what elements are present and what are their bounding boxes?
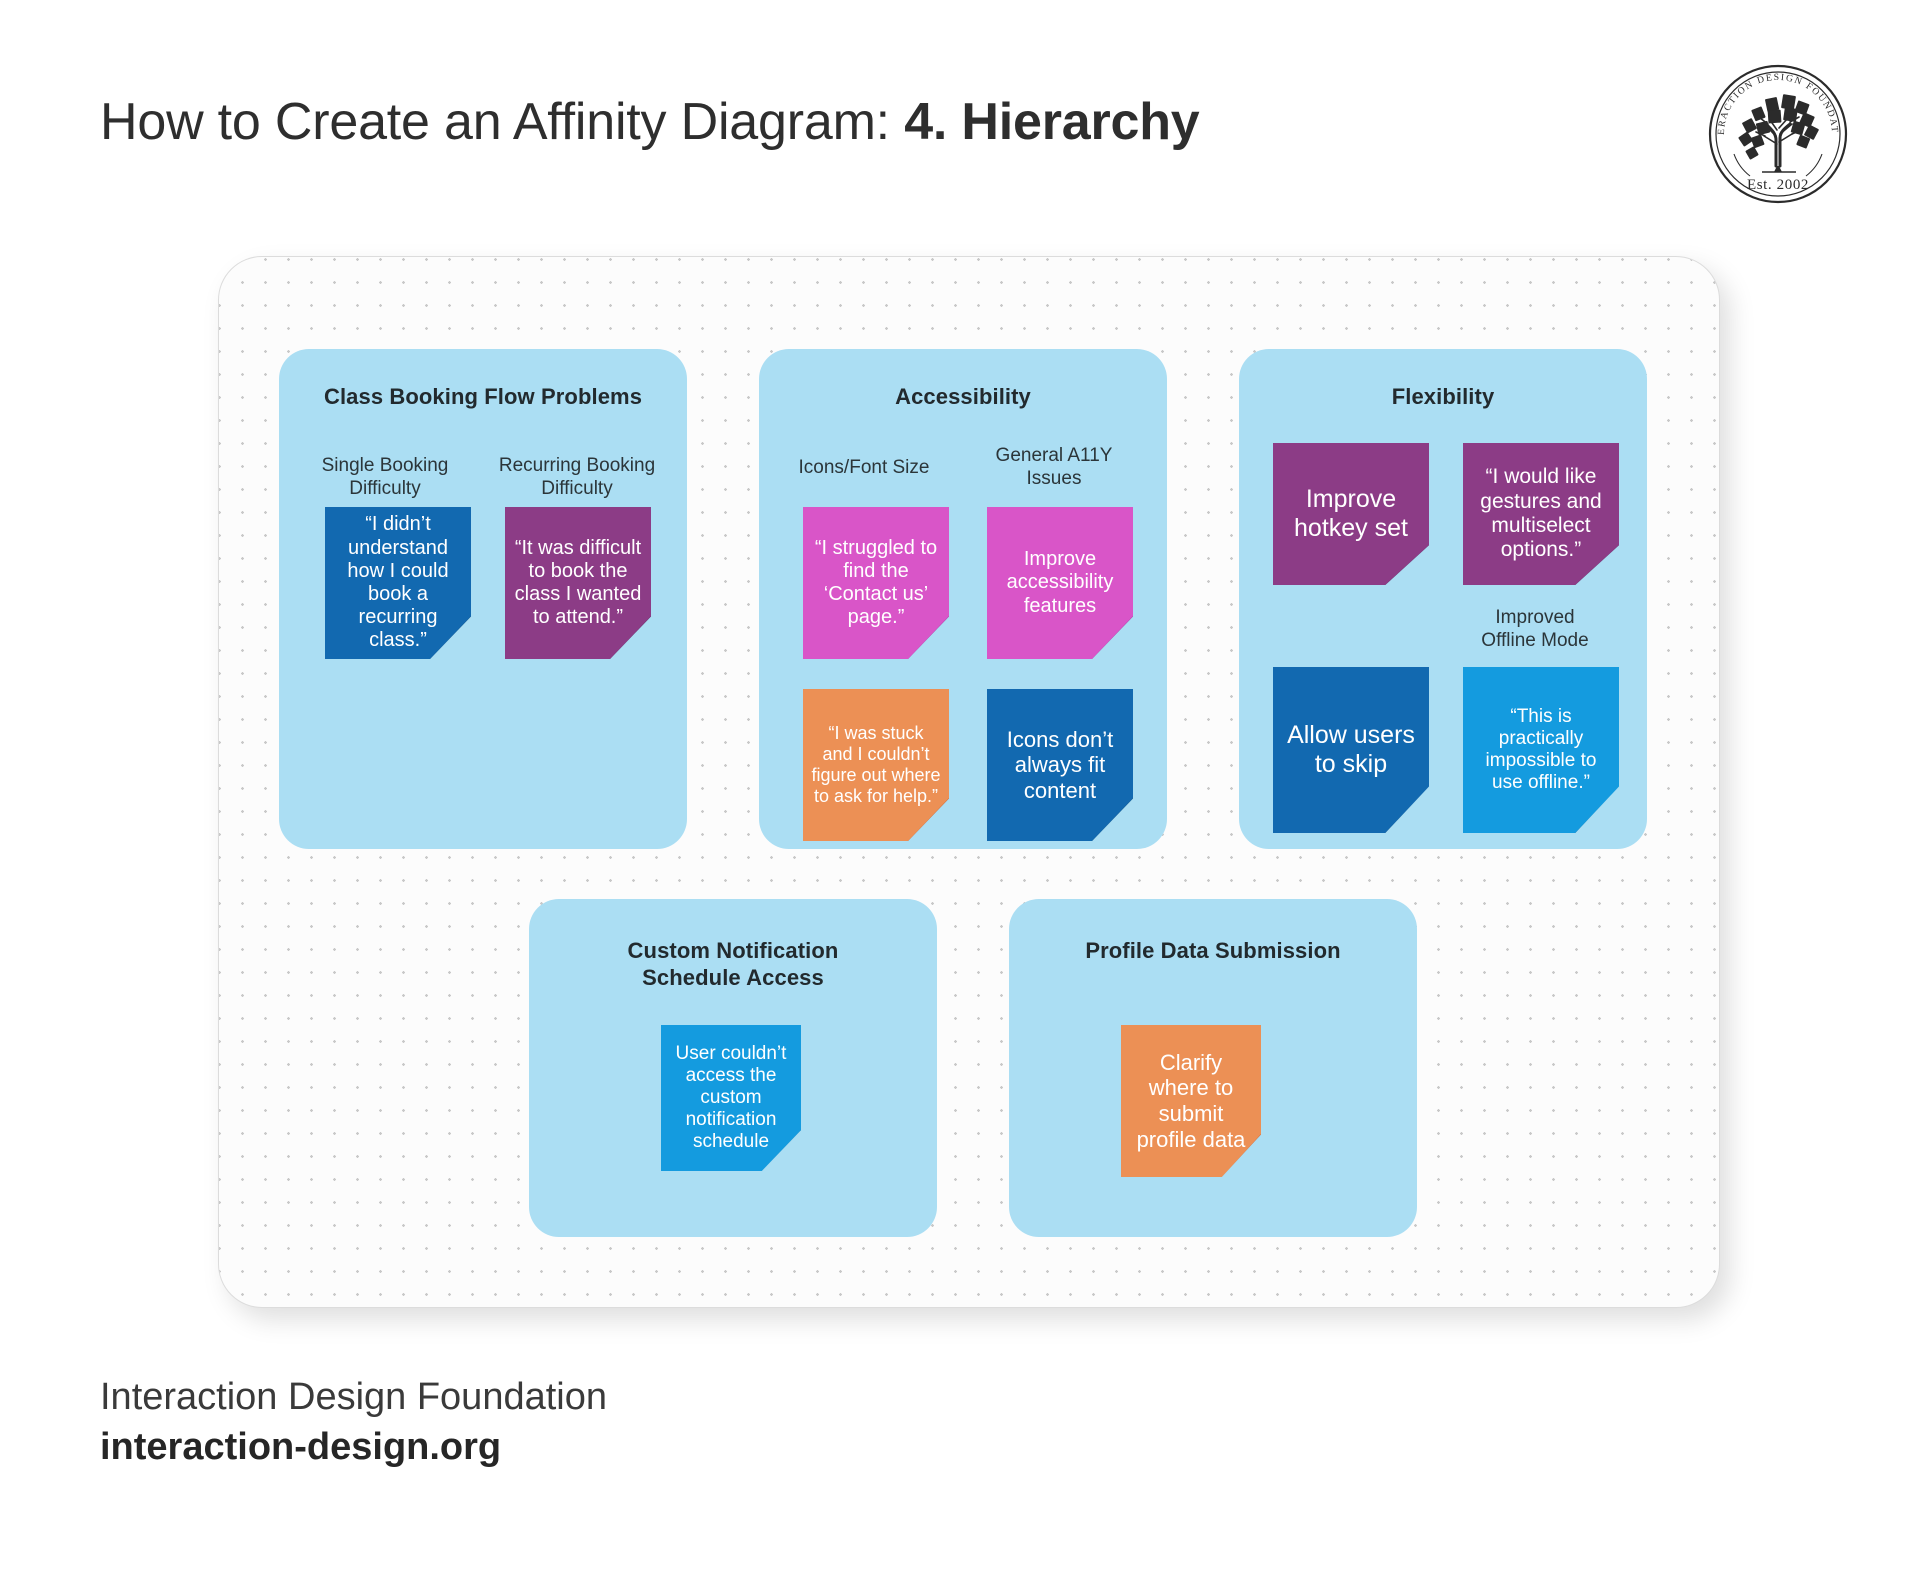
subcluster-label-accessibility-0: Icons/Font Size (769, 457, 959, 480)
sticky-note-text: Clarify where to submit profile data (1129, 1050, 1253, 1152)
group-panel-accessibility[interactable]: AccessibilityIcons/Font SizeGeneral A11Y… (759, 349, 1167, 849)
svg-text:Est. 2002: Est. 2002 (1747, 177, 1809, 193)
group-title-accessibility: Accessibility (759, 383, 1167, 410)
footer-url[interactable]: interaction-design.org (100, 1424, 607, 1472)
sticky-note[interactable]: “I didn’t understand how I could book a … (325, 507, 471, 659)
sticky-note-text: Icons don’t always fit content (995, 727, 1125, 804)
subcluster-label-class-booking-flow-problems-0: Single BookingDifficulty (295, 455, 475, 501)
idf-logo: INTERACTION DESIGN FOUNDATION (1706, 62, 1850, 206)
group-title-profile-data-submission: Profile Data Submission (1009, 937, 1417, 964)
subcluster-label-class-booking-flow-problems-1: Recurring BookingDifficulty (479, 455, 675, 501)
sticky-note-text: “I struggled to find the ‘Contact us’ pa… (811, 537, 941, 630)
sticky-note-text: “I didn’t understand how I could book a … (333, 513, 463, 652)
group-panel-class-booking-flow-problems[interactable]: Class Booking Flow ProblemsSingle Bookin… (279, 349, 687, 849)
sticky-note-text: “I was stuck and I couldn’t figure out w… (811, 723, 941, 807)
group-title-custom-notification-schedule-access: Custom NotificationSchedule Access (529, 937, 937, 992)
sticky-note[interactable]: Improve accessibility features (987, 507, 1133, 659)
sticky-note-text: Improve hotkey set (1281, 485, 1421, 543)
sticky-note[interactable]: User couldn’t access the custom notifica… (661, 1025, 801, 1171)
sticky-note-text: Allow users to skip (1281, 721, 1421, 779)
affinity-board[interactable]: Class Booking Flow ProblemsSingle Bookin… (218, 256, 1720, 1308)
sticky-note[interactable]: Allow users to skip (1273, 667, 1429, 833)
page-title: How to Create an Affinity Diagram: 4. Hi… (100, 92, 1200, 152)
sticky-note[interactable]: “This is practically impossible to use o… (1463, 667, 1619, 833)
page-header: How to Create an Affinity Diagram: 4. Hi… (0, 0, 1920, 230)
sticky-note[interactable]: “It was difficult to book the class I wa… (505, 507, 651, 659)
sticky-note[interactable]: Clarify where to submit profile data (1121, 1025, 1261, 1177)
sticky-note-fold-corner-icon (1385, 545, 1429, 585)
page-title-step: 4. Hierarchy (904, 93, 1199, 151)
sticky-note[interactable]: “I struggled to find the ‘Contact us’ pa… (803, 507, 949, 659)
subcluster-label-flexibility-0: ImprovedOffline Mode (1437, 607, 1633, 653)
sticky-note[interactable]: Icons don’t always fit content (987, 689, 1133, 841)
sticky-note-fold-corner-icon (1385, 787, 1429, 833)
subcluster-label-accessibility-1: General A11YIssues (959, 445, 1149, 491)
group-title-class-booking-flow-problems: Class Booking Flow Problems (279, 383, 687, 410)
sticky-note[interactable]: “I would like gestures and multiselect o… (1463, 443, 1619, 585)
group-panel-custom-notification-schedule-access[interactable]: Custom NotificationSchedule AccessUser c… (529, 899, 937, 1237)
sticky-note-text: Improve accessibility features (995, 548, 1125, 618)
group-panel-flexibility[interactable]: FlexibilityImprovedOffline ModeImprove h… (1239, 349, 1647, 849)
page-title-prefix: How to Create an Affinity Diagram: (100, 93, 904, 151)
footer-organization: Interaction Design Foundation (100, 1374, 607, 1422)
sticky-note[interactable]: “I was stuck and I couldn’t figure out w… (803, 689, 949, 841)
sticky-note-fold-corner-icon (1092, 616, 1133, 659)
sticky-note-text: User couldn’t access the custom notifica… (669, 1043, 793, 1153)
group-panel-profile-data-submission[interactable]: Profile Data SubmissionClarify where to … (1009, 899, 1417, 1237)
sticky-note[interactable]: Improve hotkey set (1273, 443, 1429, 585)
sticky-note-text: “I would like gestures and multiselect o… (1471, 465, 1611, 562)
sticky-note-fold-corner-icon (1092, 798, 1133, 841)
sticky-note-text: “This is practically impossible to use o… (1471, 706, 1611, 794)
sticky-note-text: “It was difficult to book the class I wa… (513, 537, 643, 630)
page-footer: Interaction Design Foundation interactio… (100, 1374, 607, 1471)
group-title-flexibility: Flexibility (1239, 383, 1647, 410)
